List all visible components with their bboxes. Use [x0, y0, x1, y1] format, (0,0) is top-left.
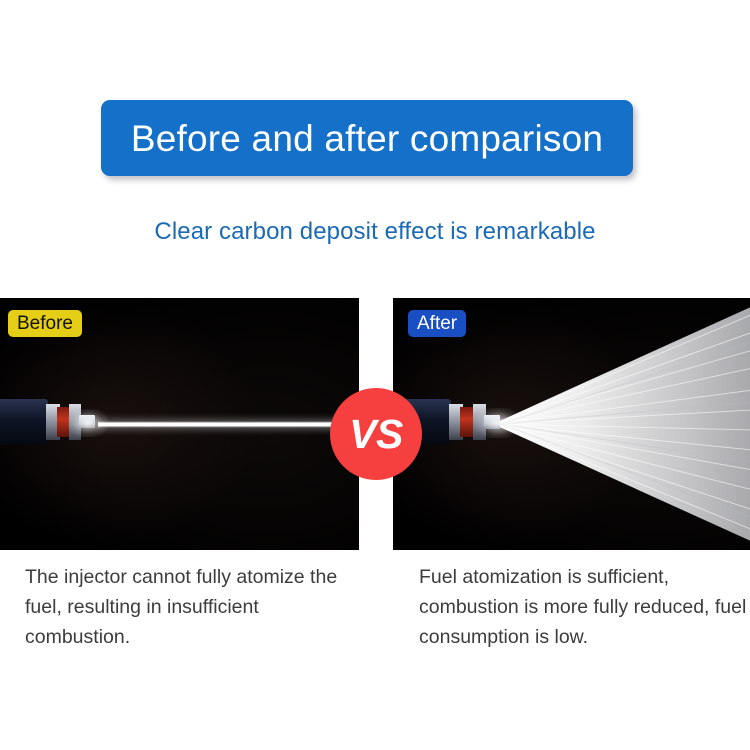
- before-badge: Before: [8, 310, 82, 337]
- comparison-infographic: Before and after comparison Clear carbon…: [0, 0, 750, 750]
- after-caption: Fuel atomization is sufficient, combusti…: [419, 562, 749, 652]
- before-injector-icon: [0, 391, 104, 453]
- before-badge-label: Before: [17, 314, 73, 333]
- injector-body: [0, 399, 48, 445]
- injector-nozzle-tip: [484, 415, 500, 429]
- after-image-panel: After: [393, 298, 750, 550]
- subtitle: Clear carbon deposit effect is remarkabl…: [0, 218, 750, 246]
- before-caption: The injector cannot fully atomize the fu…: [25, 562, 365, 652]
- vs-badge: VS: [330, 388, 422, 480]
- title-banner: Before and after comparison: [101, 100, 633, 176]
- vs-badge-label: VS: [349, 414, 403, 455]
- injector-nozzle-tip: [79, 415, 95, 428]
- before-fuel-stream-core: [98, 423, 359, 426]
- before-image-panel: Before: [0, 298, 359, 550]
- after-spray-cone: [491, 298, 750, 550]
- after-badge-label: After: [417, 314, 457, 333]
- page-title: Before and after comparison: [131, 120, 603, 157]
- after-badge: After: [408, 310, 466, 337]
